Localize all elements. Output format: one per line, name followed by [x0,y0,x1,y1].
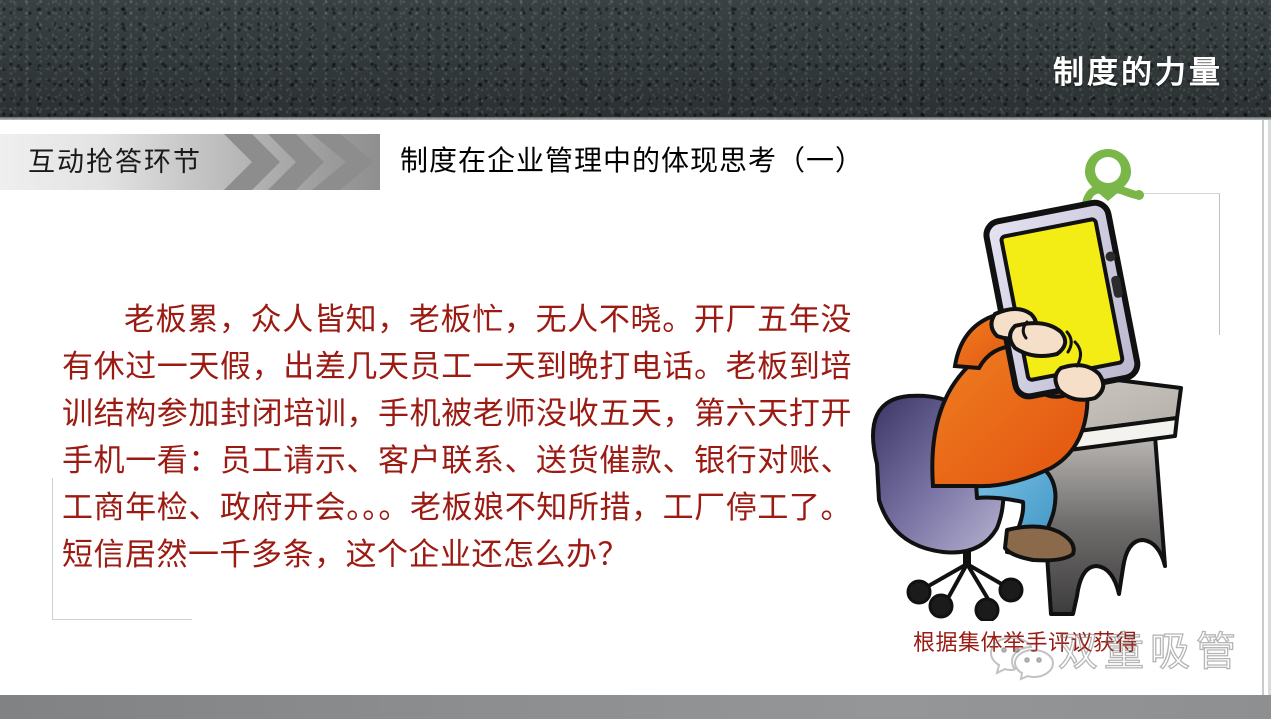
slide-headline: 制度在企业管理中的体现思考（一） [400,142,864,182]
footer-bar [0,695,1271,719]
page-title: 制度的力量 [1053,58,1223,89]
presentation-slide: 制度的力量 互动抢答环节 制度在企业管理中的体现思考（一） 老板累，众人皆知，老… [0,0,1271,719]
credit-line: 根据集体举手评议获得 [913,628,1138,658]
person-at-desk-with-tablet-illustration [855,196,1265,621]
story-paragraph: 老板累，众人皆知，老板忙，无人不晓。开厂五年没有休过一天假，出差几天员工一天到晚… [62,296,852,578]
section-banner-label: 互动抢答环节 [28,142,202,182]
